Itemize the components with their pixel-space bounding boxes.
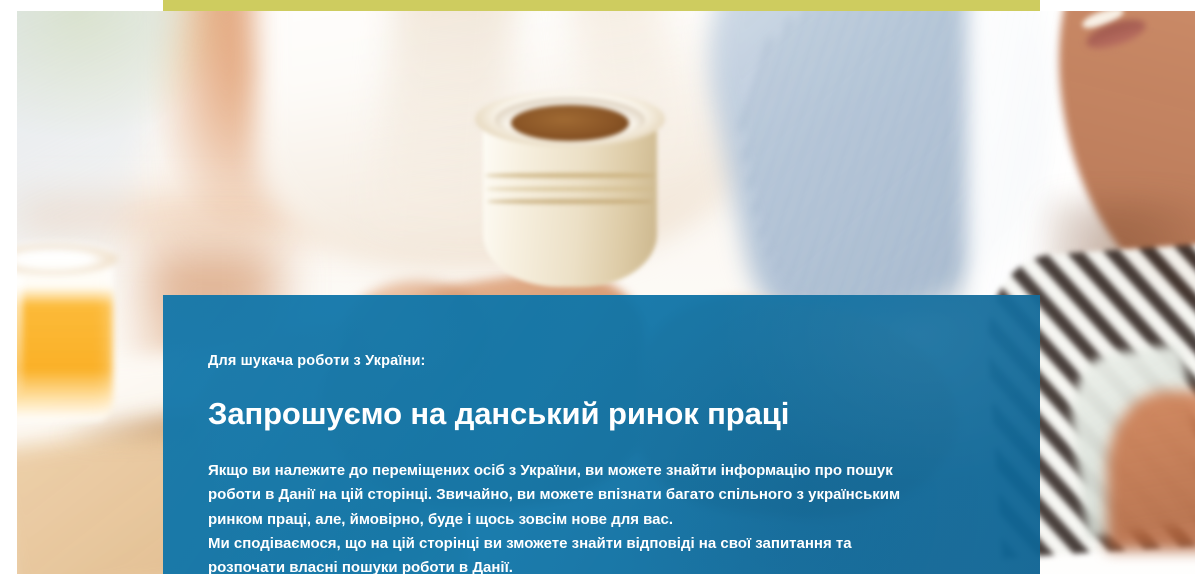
- hero-paragraph-1: Якщо ви належите до переміщених осіб з У…: [208, 459, 908, 532]
- hero-text-content: Для шукача роботи з України: Запрошуємо …: [163, 295, 1040, 574]
- cup-inner-shadow: [495, 97, 645, 143]
- page-root: Для шукача роботи з України: Запрошуємо …: [0, 0, 1195, 574]
- olive-accent-bar: [163, 0, 1040, 11]
- glass-body: [17, 249, 113, 421]
- photo-tea-cup: [475, 91, 665, 291]
- cup-stripe-3: [487, 199, 653, 204]
- hero-body-copy: Якщо ви належите до переміщених осіб з У…: [208, 459, 908, 574]
- hero-eyebrow: Для шукача роботи з України:: [208, 353, 1040, 370]
- page-title: Запрошуємо на данський ринок праці: [208, 396, 1040, 433]
- cup-stripe-1: [485, 173, 655, 178]
- photo-orange-juice-glass: [17, 241, 120, 426]
- hero-text-panel: Для шукача роботи з України: Запрошуємо …: [163, 295, 1040, 574]
- glass-highlight: [17, 275, 23, 395]
- hero-paragraph-2: Ми сподіваємося, що на цій сторінці ви з…: [208, 532, 908, 574]
- cup-stripe-2: [486, 187, 654, 191]
